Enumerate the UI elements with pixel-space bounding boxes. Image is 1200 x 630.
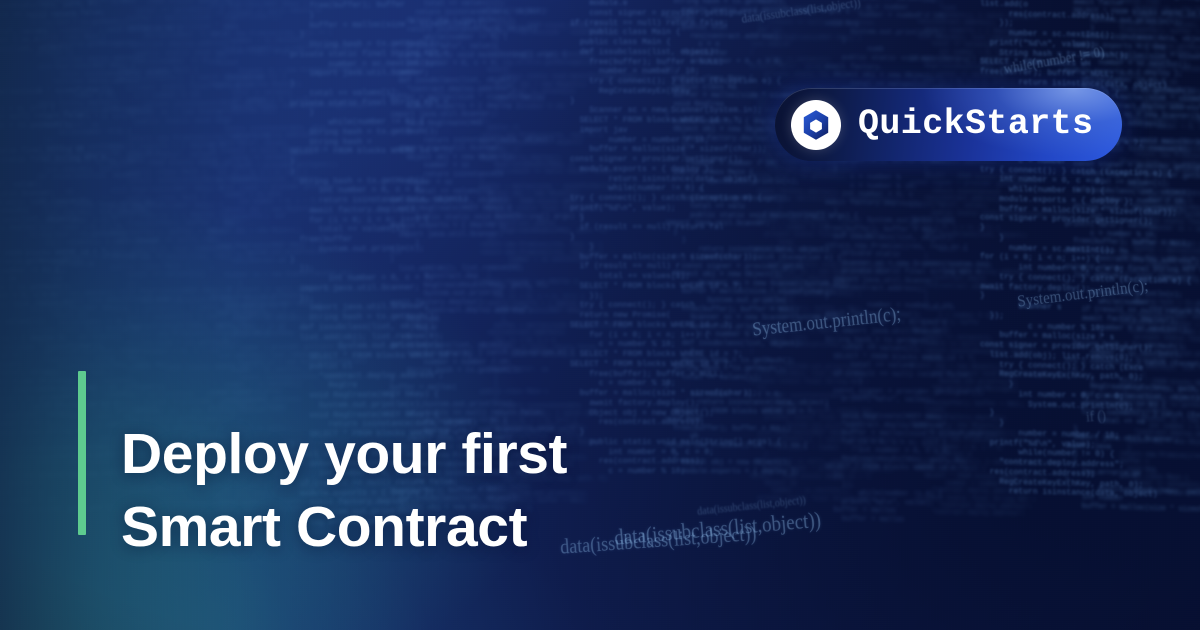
code-column: list.add(obj); list.r number = number / … — [0, 0, 60, 516]
code-column: while(number != 0) { def issubclass(list… — [1120, 0, 1200, 498]
code-snippet: data(issubclass(list,object)) — [741, 0, 862, 26]
quickstarts-badge[interactable]: QuickStarts — [775, 88, 1122, 161]
quickstarts-banner: list.add(obj); list.r number = number / … — [0, 0, 1200, 630]
code-snippet: while(number != 0) — [1002, 42, 1106, 78]
code-snippet: if () — [1085, 406, 1106, 426]
code-column: int number = 0, c = 0; buffer c = number… — [665, 0, 785, 476]
code-column: } } Scanner sc = new Scanner(System.in);… — [910, 0, 1025, 517]
page-title: Deploy your first Smart Contract — [121, 418, 741, 564]
code-column: Scanner sc = new Scanner(System.in); } a… — [570, 0, 705, 477]
code-column: return new Promise((res, rej) => { } tot… — [1065, 0, 1185, 514]
headline-line-1: Deploy your first — [121, 418, 741, 491]
code-snippet: System.out.println(c); — [1016, 277, 1149, 312]
code-snippet: System.out.println(c); — [751, 303, 902, 341]
code-column: RegCreateKeyEx(hKey, path, 0); module.ex… — [750, 0, 855, 502]
accent-bar — [78, 371, 86, 535]
code-column: } buffer = malloc(size * sizeof(char)); … — [825, 0, 950, 525]
code-column: await factory.deploy(); c = number % 10;… — [980, 0, 1120, 499]
chainlink-hexagon-icon — [791, 100, 841, 150]
headline-line-2: Smart Contract — [121, 491, 741, 564]
badge-label: QuickStarts — [858, 107, 1093, 142]
